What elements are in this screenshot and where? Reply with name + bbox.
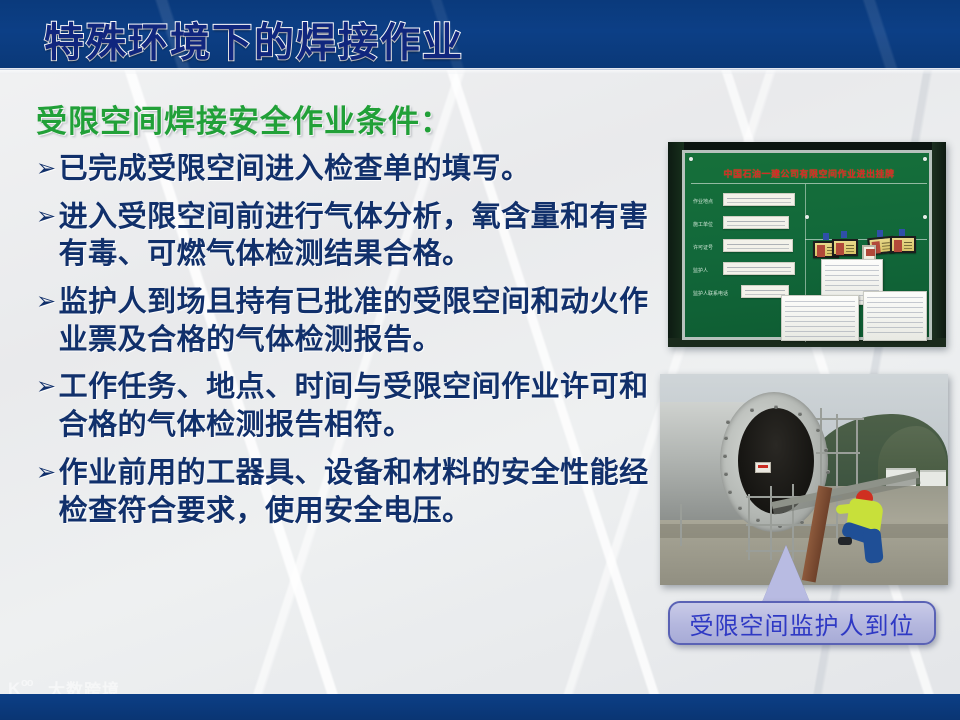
badge-text-lines (904, 242, 912, 243)
tag-photo (866, 249, 875, 256)
scaffold-rail (816, 418, 864, 420)
badge-text-lines (882, 242, 890, 244)
posted-form (781, 295, 859, 341)
list-item-text: 作业前用的工器具、设备和材料的安全性能经检查符合要求，使用安全电压。 (59, 455, 662, 530)
list-item-text: 进入受限空间前进行气体分析，氧含量和有害有毒、可燃气体检测结果合格。 (59, 199, 662, 274)
scaffold-rail (816, 452, 860, 454)
callout-text: 受限空间监护人到位 (690, 606, 915, 641)
warning-sign (755, 462, 771, 473)
board-field-slip (723, 216, 789, 229)
list-item-text: 工作任务、地点、时间与受限空间作业许可和合格的气体检测报告相符。 (59, 369, 662, 444)
photo-right-wall (932, 142, 946, 347)
flange-bolt (723, 454, 727, 458)
board-field-label: 施工单位 (693, 221, 713, 228)
list-item: ➢ 工作任务、地点、时间与受限空间作业许可和合格的气体检测报告相符。 (36, 369, 662, 444)
slide-canvas: 特殊环境下的焊接作业 受限空间焊接安全作业条件： ➢ 已完成受限空间进入检查单的… (0, 0, 960, 720)
flange-bolt (726, 420, 730, 424)
banner-underline (0, 68, 960, 74)
flange-bolt (798, 412, 802, 416)
badge-clip (841, 231, 847, 238)
section-heading: 受限空间焊接安全作业条件： (36, 96, 662, 141)
list-item-text: 已完成受限空间进入检查单的填写。 (59, 151, 662, 189)
form-ruling (867, 297, 923, 337)
board-bolt (923, 157, 927, 161)
board-field-slip (723, 193, 795, 206)
page-title: 特殊环境下的焊接作业 (44, 10, 464, 68)
badge-text-lines (846, 245, 854, 246)
flange-bolt (774, 405, 778, 409)
list-item: ➢ 进入受限空间前进行气体分析，氧含量和有害有毒、可燃气体检测结果合格。 (36, 199, 662, 274)
badge-photo (817, 245, 825, 257)
flange-bolt (756, 518, 760, 522)
arrow-bullet-icon: ➢ (36, 285, 57, 320)
badge-photo (836, 243, 844, 255)
arrow-bullet-icon: ➢ (36, 456, 57, 491)
worker-boot (838, 537, 852, 545)
flange-bolt (728, 490, 732, 494)
board-field-label: 作业地点 (693, 198, 713, 205)
badge-clip (899, 229, 905, 236)
callout-tail (760, 545, 812, 607)
board-bolt (805, 215, 809, 219)
flange-bolt (738, 506, 742, 510)
board-field-label: 许可证号 (693, 244, 713, 251)
badge-clip (823, 233, 829, 240)
callout-annotation: 受限空间监护人到位 (668, 545, 938, 655)
content-column: 受限空间焊接安全作业条件： ➢ 已完成受限空间进入检查单的填写。 ➢ 进入受限空… (36, 96, 662, 530)
flange-bolt (826, 470, 830, 474)
board-sign-text: 中国石油一建公司有限空间作业进出挂牌 (693, 167, 925, 180)
flange-bolt (724, 472, 728, 476)
arrow-bullet-icon: ➢ (36, 370, 57, 405)
board-field-slip (723, 239, 793, 252)
bottom-bar (0, 694, 960, 720)
callout-box: 受限空间监护人到位 (668, 601, 936, 645)
building (920, 470, 946, 486)
board-field-slip (723, 262, 795, 275)
flange-bolt (724, 436, 728, 440)
flange-bolt (750, 408, 754, 412)
board-divider-horizontal (691, 183, 927, 184)
list-item: ➢ 已完成受限空间进入检查单的填写。 (36, 151, 662, 189)
scaffold-pole (680, 504, 682, 546)
form-ruling (785, 301, 855, 337)
board-bolt (689, 157, 693, 161)
arrow-bullet-icon: ➢ (36, 152, 57, 187)
green-permit-board: 中国石油一建公司有限空间作业进出挂牌 作业地点 施工单位 许可证号 监护人 监护… (682, 150, 932, 340)
board-field-label: 监护人联系电话 (693, 290, 728, 297)
id-badge (832, 239, 858, 256)
board-bolt (923, 215, 927, 219)
list-item: ➢ 监护人到场且持有已批准的受限空间和动火作业票及合格的气体检测报告。 (36, 284, 662, 359)
arrow-bullet-icon: ➢ (36, 200, 57, 235)
scaffold-pole (836, 414, 838, 538)
watermark-logo-oo: oo (21, 677, 32, 689)
id-badge (890, 236, 916, 253)
posted-form (863, 291, 927, 341)
list-item: ➢ 作业前用的工器具、设备和材料的安全性能经检查符合要求，使用安全电压。 (36, 455, 662, 530)
photo-permit-board: 中国石油一建公司有限空间作业进出挂牌 作业地点 施工单位 许可证号 监护人 监护… (668, 142, 946, 347)
board-field-label: 监护人 (693, 267, 708, 274)
list-item-text: 监护人到场且持有已批准的受限空间和动火作业票及合格的气体检测报告。 (59, 284, 662, 359)
ground-strip (660, 524, 948, 538)
badge-photo (894, 240, 902, 252)
